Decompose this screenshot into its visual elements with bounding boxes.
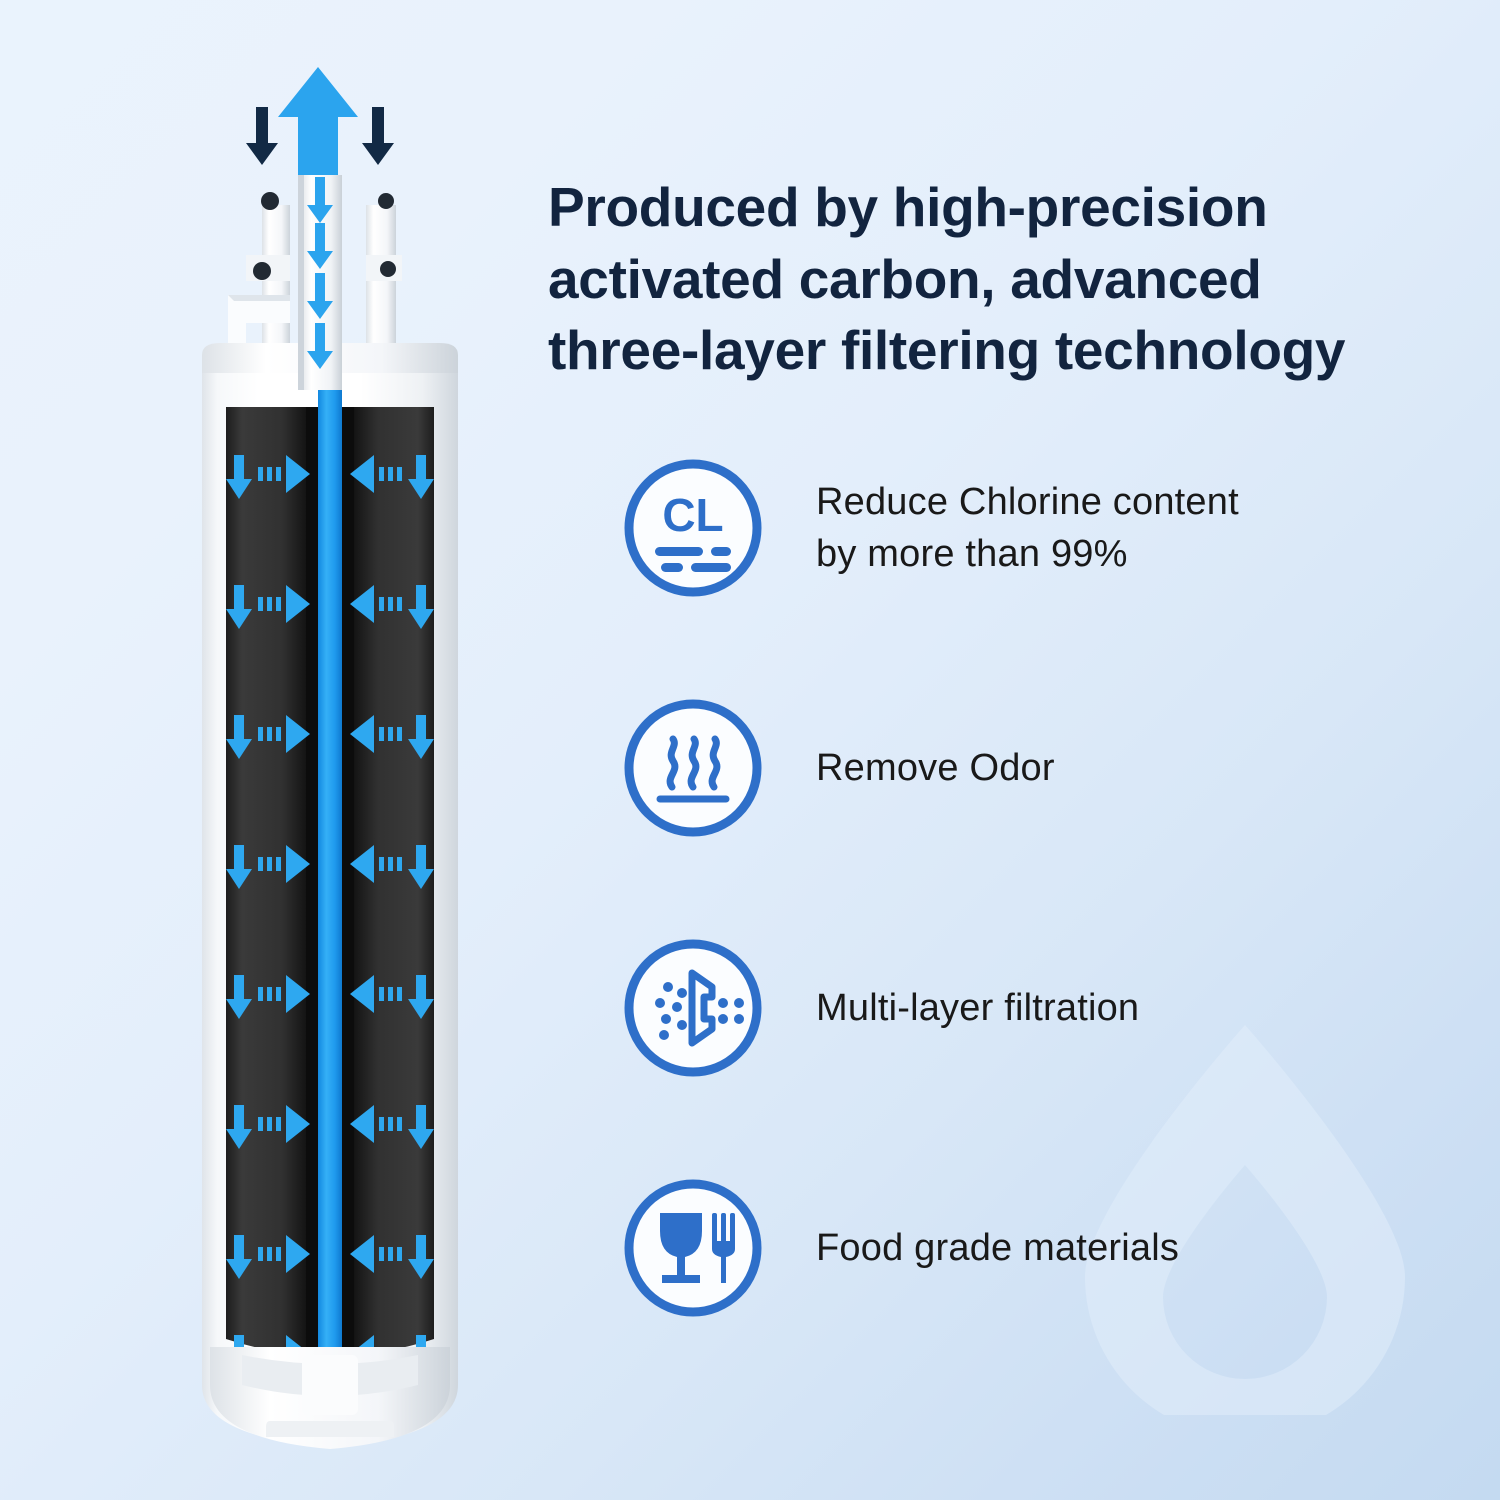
filter-base-cap bbox=[210, 1347, 450, 1449]
feature-line: Remove Odor bbox=[816, 742, 1055, 794]
chlorine-cl-icon: CL bbox=[620, 455, 766, 601]
chlorine-cl-label: CL bbox=[662, 489, 723, 541]
feature-line: Reduce Chlorine content bbox=[816, 476, 1239, 528]
feature-item-multilayer: Multi-layer filtration bbox=[620, 935, 1480, 1175]
feature-text-chlorine: Reduce Chlorine content by more than 99% bbox=[816, 455, 1239, 601]
center-water-channel bbox=[318, 385, 342, 1385]
feature-item-foodgrade: Food grade materials bbox=[620, 1175, 1480, 1415]
feature-text-multilayer: Multi-layer filtration bbox=[816, 935, 1139, 1081]
multi-layer-membrane-icon bbox=[620, 935, 766, 1081]
water-filter-cartridge-cutaway bbox=[150, 55, 510, 1475]
feature-text-foodgrade: Food grade materials bbox=[816, 1175, 1179, 1321]
odor-steam-icon bbox=[620, 695, 766, 841]
feature-item-chlorine: CL Reduce Chlorine content by more than … bbox=[620, 455, 1480, 695]
food-grade-glass-fork-icon bbox=[620, 1175, 766, 1321]
feature-line: Multi-layer filtration bbox=[816, 982, 1139, 1034]
infographic-canvas: Produced by high-precision activated car… bbox=[0, 0, 1500, 1500]
headline-line-2: activated carbon, advanced bbox=[548, 244, 1478, 316]
feature-item-odor: Remove Odor bbox=[620, 695, 1480, 935]
feature-text-odor: Remove Odor bbox=[816, 695, 1055, 841]
headline-line-3: three-layer filtering technology bbox=[548, 315, 1478, 387]
feature-line: by more than 99% bbox=[816, 528, 1239, 580]
feature-list: CL Reduce Chlorine content by more than … bbox=[620, 455, 1480, 1415]
headline: Produced by high-precision activated car… bbox=[548, 172, 1478, 387]
headline-line-1: Produced by high-precision bbox=[548, 172, 1478, 244]
feature-line: Food grade materials bbox=[816, 1222, 1179, 1274]
